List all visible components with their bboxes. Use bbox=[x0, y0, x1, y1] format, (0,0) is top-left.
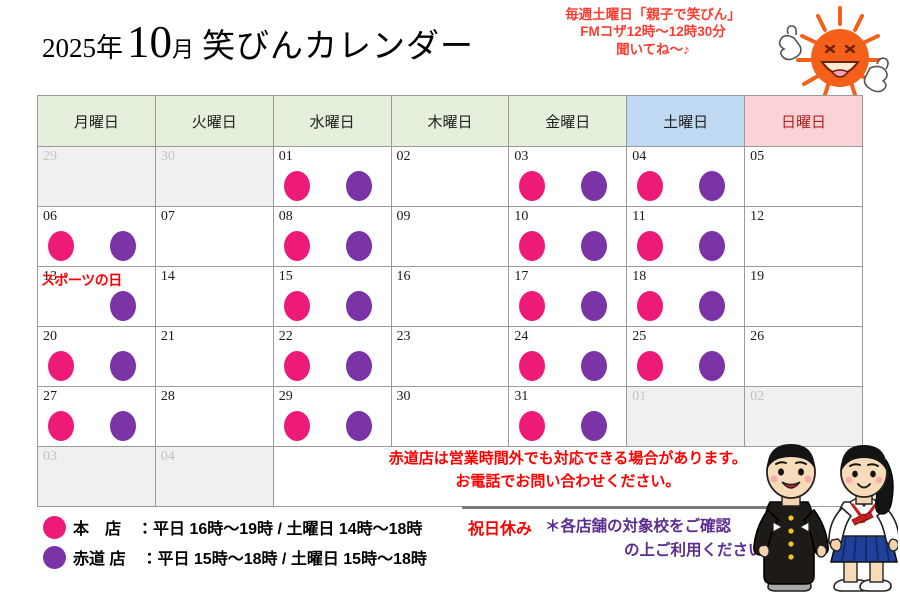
akamichi-open-dot-icon bbox=[699, 351, 725, 381]
legend-school-note-line-1: ＊各店舗の対象校をご確認 bbox=[545, 518, 731, 535]
calendar-note-row: 0304赤道店は営業時間外でも対応できる場合があります。お電話でお問い合わせくだ… bbox=[38, 447, 863, 507]
day-number: 02 bbox=[750, 389, 764, 405]
holiday-label: スポーツの日 bbox=[41, 270, 122, 290]
calendar-day-cell[interactable]: 24 bbox=[509, 327, 627, 387]
calendar-body: 293001020304050607080910111213スポーツの日1415… bbox=[38, 147, 863, 507]
day-number: 12 bbox=[750, 209, 764, 225]
calendar-day-cell[interactable]: 10 bbox=[509, 207, 627, 267]
akamichi-open-dot-icon bbox=[699, 231, 725, 261]
honten-open-dot-icon bbox=[637, 351, 663, 381]
akamichi-open-dot-icon bbox=[699, 291, 725, 321]
weekday-header-tue: 火曜日 bbox=[155, 96, 273, 147]
calendar-day-cell[interactable]: 30 bbox=[391, 387, 509, 447]
calendar-day-cell[interactable]: 22 bbox=[273, 327, 391, 387]
calendar-day-cell[interactable]: 05 bbox=[745, 147, 863, 207]
calendar-day-cell[interactable]: 19 bbox=[745, 267, 863, 327]
calendar-week-row: 20212223242526 bbox=[38, 327, 863, 387]
day-number: 25 bbox=[632, 329, 646, 345]
honten-open-dot-icon bbox=[519, 291, 545, 321]
calendar-day-cell[interactable]: 12 bbox=[745, 207, 863, 267]
day-number: 16 bbox=[397, 269, 411, 285]
day-number: 03 bbox=[43, 449, 57, 465]
weekday-header-sat: 土曜日 bbox=[627, 96, 745, 147]
honten-open-dot-icon bbox=[637, 291, 663, 321]
honten-open-dot-icon bbox=[519, 231, 545, 261]
akamichi-open-dot-icon bbox=[346, 171, 372, 201]
calendar-day-cell[interactable]: 29 bbox=[273, 387, 391, 447]
day-number: 30 bbox=[161, 149, 175, 165]
akamichi-open-dot-icon bbox=[346, 231, 372, 261]
day-number: 30 bbox=[397, 389, 411, 405]
day-number: 17 bbox=[514, 269, 528, 285]
weekday-header-thu: 木曜日 bbox=[391, 96, 509, 147]
title-year: 2025年 bbox=[42, 33, 123, 63]
legend-dot-honten-icon bbox=[43, 516, 66, 539]
weekday-header-sun: 日曜日 bbox=[745, 96, 863, 147]
calendar-week-row: 27282930310102 bbox=[38, 387, 863, 447]
day-number: 04 bbox=[161, 449, 175, 465]
radio-promo-line-1: 毎週土曜日「親子で笑びん」 bbox=[528, 6, 778, 23]
calendar-day-cell[interactable]: 18 bbox=[627, 267, 745, 327]
calendar-day-cell[interactable]: 13スポーツの日 bbox=[38, 267, 156, 327]
calendar-week-row: 29300102030405 bbox=[38, 147, 863, 207]
calendar-day-cell[interactable]: 11 bbox=[627, 207, 745, 267]
day-number: 07 bbox=[161, 209, 175, 225]
akamichi-open-dot-icon bbox=[346, 351, 372, 381]
honten-open-dot-icon bbox=[637, 231, 663, 261]
calendar-day-cell[interactable]: 04 bbox=[155, 447, 273, 507]
weekday-header-wed: 水曜日 bbox=[273, 96, 391, 147]
day-number: 24 bbox=[514, 329, 528, 345]
day-number: 21 bbox=[161, 329, 175, 345]
honten-open-dot-icon bbox=[284, 171, 310, 201]
day-number: 11 bbox=[632, 209, 645, 225]
day-number: 04 bbox=[632, 149, 646, 165]
honten-open-dot-icon bbox=[48, 351, 74, 381]
calendar-header-row: 月曜日 火曜日 水曜日 木曜日 金曜日 土曜日 日曜日 bbox=[38, 96, 863, 147]
day-number: 31 bbox=[514, 389, 528, 405]
day-number: 29 bbox=[279, 389, 293, 405]
day-number: 06 bbox=[43, 209, 57, 225]
day-number: 20 bbox=[43, 329, 57, 345]
calendar-table: 月曜日 火曜日 水曜日 木曜日 金曜日 土曜日 日曜日 293001020304… bbox=[37, 95, 863, 507]
honten-open-dot-icon bbox=[519, 351, 545, 381]
two-students-icon bbox=[746, 430, 898, 598]
calendar-day-cell[interactable]: 15 bbox=[273, 267, 391, 327]
calendar-week-row: 06070809101112 bbox=[38, 207, 863, 267]
title-month: 10 bbox=[127, 17, 172, 67]
honten-open-dot-icon bbox=[284, 231, 310, 261]
calendar-day-cell[interactable]: 14 bbox=[155, 267, 273, 327]
calendar-day-cell[interactable]: 08 bbox=[273, 207, 391, 267]
legend-text-honten: 本 店 ：平日 16時〜19時 / 土曜日 14時〜18時 bbox=[73, 515, 422, 539]
calendar-day-cell[interactable]: 25 bbox=[627, 327, 745, 387]
day-number: 22 bbox=[279, 329, 293, 345]
day-number: 27 bbox=[43, 389, 57, 405]
akamichi-open-dot-icon bbox=[581, 231, 607, 261]
honten-open-dot-icon bbox=[48, 231, 74, 261]
weekday-header-mon: 月曜日 bbox=[38, 96, 156, 147]
calendar-day-cell[interactable]: 09 bbox=[391, 207, 509, 267]
legend-text-akamichi: 赤道 店 ：平日 15時〜18時 / 土曜日 15時〜18時 bbox=[73, 545, 427, 569]
honten-open-dot-icon bbox=[519, 171, 545, 201]
weekday-header-fri: 金曜日 bbox=[509, 96, 627, 147]
calendar-day-cell[interactable]: 01 bbox=[273, 147, 391, 207]
akamichi-open-dot-icon bbox=[110, 351, 136, 381]
header-area: 2025年10月笑びんカレンダー 毎週土曜日「親子で笑びん」 FMコザ12時〜1… bbox=[0, 0, 900, 92]
akamichi-open-dot-icon bbox=[581, 351, 607, 381]
day-number: 18 bbox=[632, 269, 646, 285]
page-title: 2025年10月笑びんカレンダー bbox=[42, 16, 474, 68]
calendar-day-cell[interactable]: 03 bbox=[509, 147, 627, 207]
day-number: 05 bbox=[750, 149, 764, 165]
akamichi-open-dot-icon bbox=[110, 291, 136, 321]
day-number: 28 bbox=[161, 389, 175, 405]
day-number: 03 bbox=[514, 149, 528, 165]
day-number: 02 bbox=[397, 149, 411, 165]
honten-open-dot-icon bbox=[284, 411, 310, 441]
legend-dot-akamichi-icon bbox=[43, 546, 66, 569]
calendar-day-cell[interactable]: 31 bbox=[509, 387, 627, 447]
day-number: 15 bbox=[279, 269, 293, 285]
akamichi-open-dot-icon bbox=[110, 411, 136, 441]
calendar-day-cell[interactable]: 16 bbox=[391, 267, 509, 327]
radio-promo-line-3: 聞いてね〜♪ bbox=[528, 41, 778, 58]
honten-open-dot-icon bbox=[48, 411, 74, 441]
day-number: 14 bbox=[161, 269, 175, 285]
calendar-day-cell[interactable]: 21 bbox=[155, 327, 273, 387]
akamichi-open-dot-icon bbox=[110, 231, 136, 261]
day-number: 23 bbox=[397, 329, 411, 345]
calendar-day-cell[interactable]: 26 bbox=[745, 327, 863, 387]
akamichi-open-dot-icon bbox=[581, 291, 607, 321]
calendar-day-cell[interactable]: 27 bbox=[38, 387, 156, 447]
title-month-suffix: 月 bbox=[172, 37, 194, 62]
calendar-day-cell[interactable]: 06 bbox=[38, 207, 156, 267]
title-calendar-name: 笑びんカレンダー bbox=[202, 29, 474, 65]
radio-promo-line-2: FMコザ12時〜12時30分 bbox=[528, 23, 778, 40]
calendar-week-row: 13スポーツの日141516171819 bbox=[38, 267, 863, 327]
calendar-day-cell[interactable]: 01 bbox=[627, 387, 745, 447]
honten-open-dot-icon bbox=[519, 411, 545, 441]
day-number: 19 bbox=[750, 269, 764, 285]
akamichi-open-dot-icon bbox=[699, 171, 725, 201]
akamichi-open-dot-icon bbox=[581, 411, 607, 441]
legend-holiday-note: 祝日休み bbox=[468, 515, 532, 539]
calendar-day-cell[interactable]: 29 bbox=[38, 147, 156, 207]
akamichi-open-dot-icon bbox=[581, 171, 607, 201]
calendar-day-cell[interactable]: 02 bbox=[391, 147, 509, 207]
day-number: 09 bbox=[397, 209, 411, 225]
radio-promo-text: 毎週土曜日「親子で笑びん」 FMコザ12時〜12時30分 聞いてね〜♪ bbox=[528, 6, 778, 58]
day-number: 01 bbox=[632, 389, 646, 405]
honten-open-dot-icon bbox=[284, 291, 310, 321]
smiling-sun-icon bbox=[778, 2, 896, 106]
honten-open-dot-icon bbox=[637, 171, 663, 201]
calendar-day-cell[interactable]: 20 bbox=[38, 327, 156, 387]
day-number: 26 bbox=[750, 329, 764, 345]
calendar-day-cell[interactable]: 28 bbox=[155, 387, 273, 447]
day-number: 29 bbox=[43, 149, 57, 165]
calendar-day-cell[interactable]: 17 bbox=[509, 267, 627, 327]
day-number: 10 bbox=[514, 209, 528, 225]
day-number: 01 bbox=[279, 149, 293, 165]
calendar-day-cell[interactable]: 03 bbox=[38, 447, 156, 507]
calendar-day-cell[interactable]: 30 bbox=[155, 147, 273, 207]
calendar-day-cell[interactable]: 23 bbox=[391, 327, 509, 387]
calendar-day-cell[interactable]: 07 bbox=[155, 207, 273, 267]
akamichi-open-dot-icon bbox=[346, 291, 372, 321]
day-number: 08 bbox=[279, 209, 293, 225]
calendar-day-cell[interactable]: 04 bbox=[627, 147, 745, 207]
honten-open-dot-icon bbox=[284, 351, 310, 381]
akamichi-open-dot-icon bbox=[346, 411, 372, 441]
